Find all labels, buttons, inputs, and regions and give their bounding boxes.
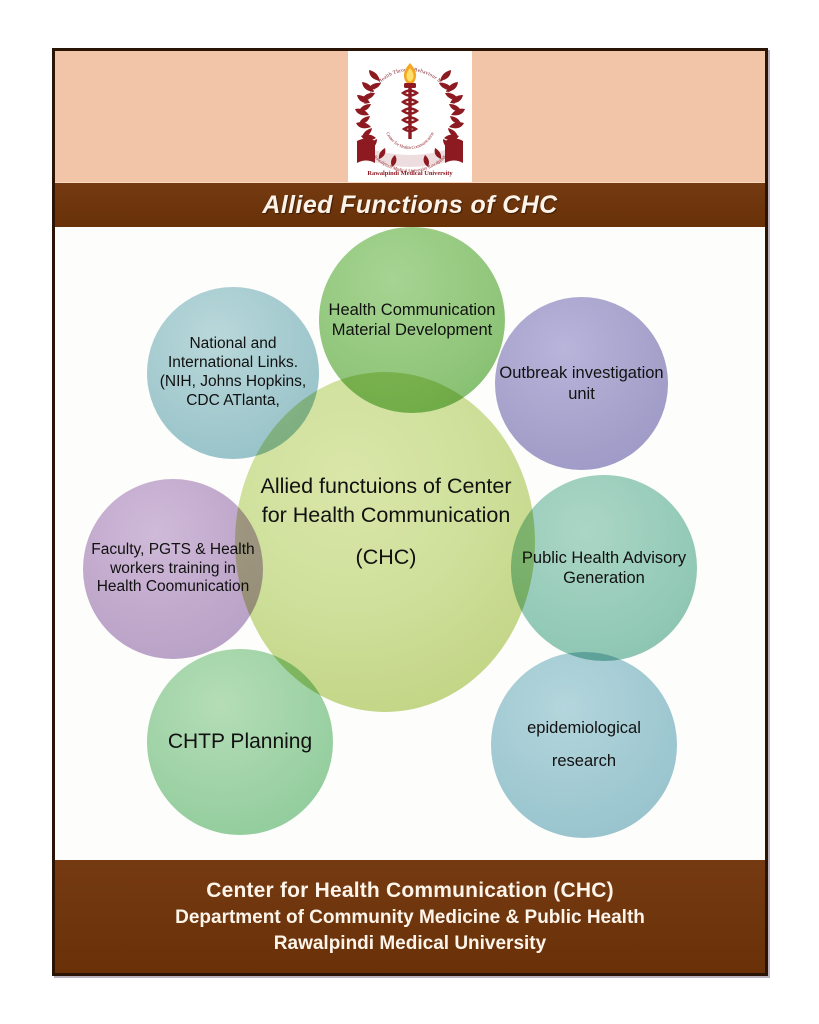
- center-label: Allied functuions of Center for Health C…: [250, 472, 522, 572]
- footer-line-1: Center for Health Communication (CHC): [206, 879, 614, 903]
- bubble-label: Health Communication Material Developmen…: [323, 300, 501, 340]
- bubble-label: Faculty, PGTS & Health workers training …: [87, 541, 259, 598]
- rmu-emblem-icon: Promoting Health Through Behaviour Modif…: [348, 51, 472, 182]
- poster-frame: Promoting Health Through Behaviour Modif…: [52, 48, 768, 976]
- bubble-outbreak-investigation-unit[interactable]: Outbreak investigation unit: [495, 297, 668, 470]
- bubble-label: Outbreak investigation unit: [499, 363, 664, 403]
- bubble-label: Public Health Advisory Generation: [515, 548, 693, 588]
- bubble-epidemiological-research[interactable]: epidemiological research: [491, 652, 677, 838]
- bubble-chtp-planning[interactable]: CHTP Planning: [147, 649, 333, 835]
- bubble-public-health-advisory-generation[interactable]: Public Health Advisory Generation: [511, 475, 697, 661]
- footer-band: Center for Health Communication (CHC) De…: [55, 860, 765, 973]
- bubble-national-and-international-links[interactable]: National and International Links. (NIH, …: [147, 287, 319, 459]
- bubble-health-communication-material-development[interactable]: Health Communication Material Developmen…: [319, 227, 505, 413]
- bubble-faculty-pgts-health-workers-training[interactable]: Faculty, PGTS & Health workers training …: [83, 479, 263, 659]
- bubble-label: CHTP Planning: [151, 729, 329, 755]
- bubble-label: epidemiological research: [495, 712, 673, 778]
- center-label-main: Allied functuions of Center for Health C…: [261, 474, 512, 527]
- venn-diagram: Health Communication Material Developmen…: [55, 227, 765, 864]
- bubble-label: National and International Links. (NIH, …: [151, 335, 315, 411]
- footer-line-3: Rawalpindi Medical University: [274, 933, 546, 955]
- svg-text:Rawalpindi Medical University: Rawalpindi Medical University: [367, 170, 453, 177]
- poster-title-band: Allied Functions of CHC: [55, 182, 765, 227]
- page-title: Allied Functions of CHC: [262, 191, 557, 220]
- header-band: Promoting Health Through Behaviour Modif…: [55, 51, 765, 182]
- footer-line-2: Department of Community Medicine & Publi…: [175, 907, 645, 929]
- center-label-sub: (CHC): [250, 543, 522, 572]
